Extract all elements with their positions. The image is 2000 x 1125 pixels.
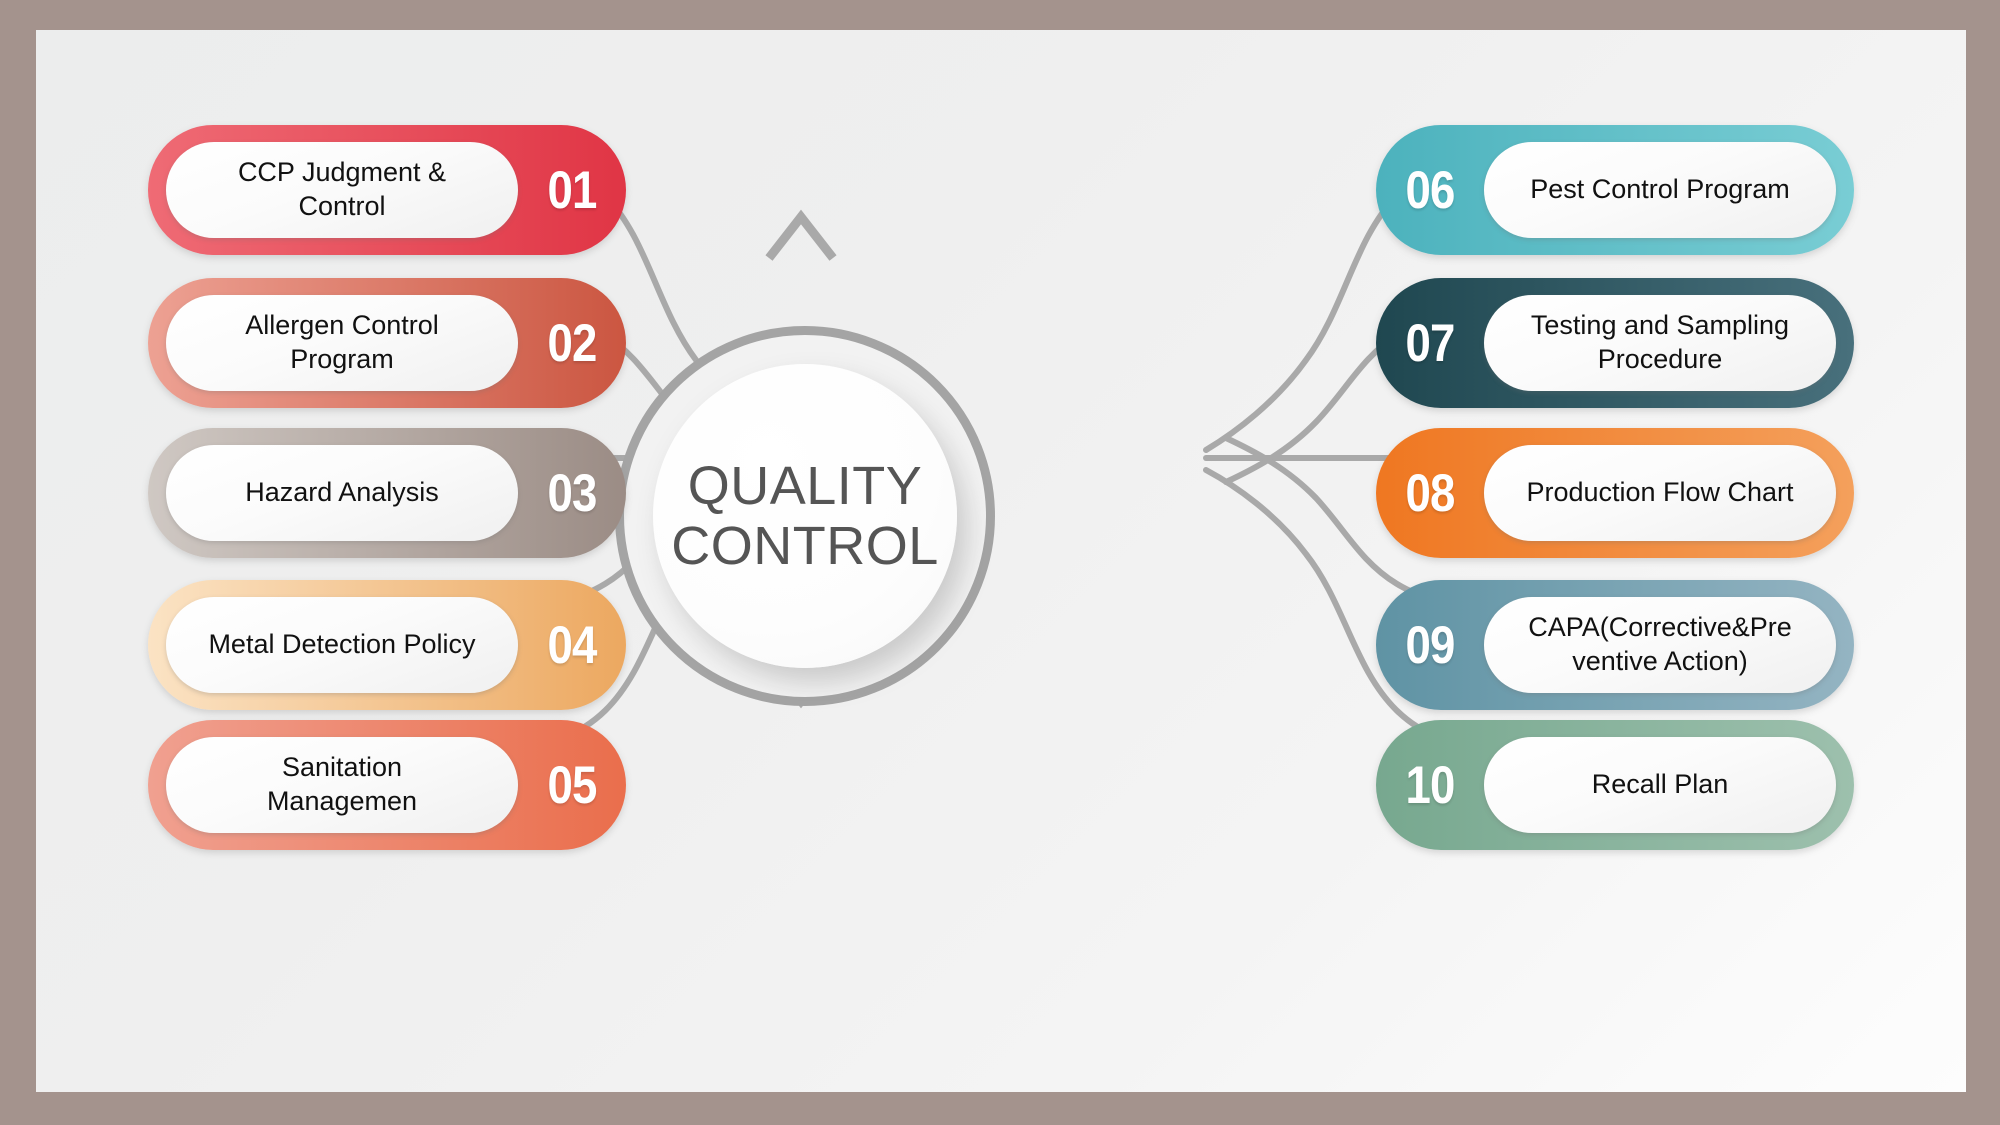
center-hub: QUALITY CONTROL bbox=[615, 326, 995, 706]
item-label-box-06: Pest Control Program bbox=[1484, 142, 1836, 238]
diagram-canvas: QUALITY CONTROL CCP Judgment & Control 0… bbox=[36, 30, 1966, 1092]
poster-frame: QUALITY CONTROL CCP Judgment & Control 0… bbox=[0, 0, 2000, 1125]
item-number-10: 10 bbox=[1384, 755, 1477, 816]
item-number-08: 08 bbox=[1384, 463, 1477, 524]
item-pill-10[interactable]: 10 Recall Plan bbox=[1376, 720, 1854, 850]
item-pill-06[interactable]: 06 Pest Control Program bbox=[1376, 125, 1854, 255]
item-label-06: Pest Control Program bbox=[1530, 173, 1790, 207]
item-label-box-07: Testing and Sampling Procedure bbox=[1484, 295, 1836, 391]
item-number-04: 04 bbox=[526, 615, 619, 676]
item-label-07: Testing and Sampling Procedure bbox=[1531, 309, 1789, 377]
center-title: QUALITY CONTROL bbox=[671, 456, 939, 577]
item-label-04: Metal Detection Policy bbox=[208, 628, 475, 662]
center-disc: QUALITY CONTROL bbox=[653, 364, 957, 668]
item-number-09: 09 bbox=[1384, 615, 1477, 676]
item-label-01: CCP Judgment & Control bbox=[238, 156, 446, 224]
item-number-01: 01 bbox=[526, 160, 619, 221]
chevron-up-icon bbox=[769, 217, 833, 258]
item-number-02: 02 bbox=[526, 313, 619, 374]
item-label-03: Hazard Analysis bbox=[245, 476, 439, 510]
item-label-box-01: CCP Judgment & Control bbox=[166, 142, 518, 238]
item-label-box-05: Sanitation Managemen bbox=[166, 737, 518, 833]
item-pill-02[interactable]: Allergen Control Program 02 bbox=[148, 278, 626, 408]
item-number-03: 03 bbox=[526, 463, 619, 524]
item-label-08: Production Flow Chart bbox=[1526, 476, 1793, 510]
item-number-07: 07 bbox=[1384, 313, 1477, 374]
item-label-10: Recall Plan bbox=[1592, 768, 1729, 802]
item-pill-01[interactable]: CCP Judgment & Control 01 bbox=[148, 125, 626, 255]
item-label-box-04: Metal Detection Policy bbox=[166, 597, 518, 693]
item-label-09: CAPA(Corrective&Pre ventive Action) bbox=[1528, 611, 1792, 679]
item-label-box-09: CAPA(Corrective&Pre ventive Action) bbox=[1484, 597, 1836, 693]
item-label-box-02: Allergen Control Program bbox=[166, 295, 518, 391]
item-pill-09[interactable]: 09 CAPA(Corrective&Pre ventive Action) bbox=[1376, 580, 1854, 710]
item-label-02: Allergen Control Program bbox=[245, 309, 439, 377]
item-label-box-10: Recall Plan bbox=[1484, 737, 1836, 833]
item-label-05: Sanitation Managemen bbox=[267, 751, 417, 819]
item-pill-07[interactable]: 07 Testing and Sampling Procedure bbox=[1376, 278, 1854, 408]
item-pill-03[interactable]: Hazard Analysis 03 bbox=[148, 428, 626, 558]
item-pill-05[interactable]: Sanitation Managemen 05 bbox=[148, 720, 626, 850]
item-number-06: 06 bbox=[1384, 160, 1477, 221]
item-number-05: 05 bbox=[526, 755, 619, 816]
item-pill-04[interactable]: Metal Detection Policy 04 bbox=[148, 580, 626, 710]
item-pill-08[interactable]: 08 Production Flow Chart bbox=[1376, 428, 1854, 558]
item-label-box-08: Production Flow Chart bbox=[1484, 445, 1836, 541]
item-label-box-03: Hazard Analysis bbox=[166, 445, 518, 541]
